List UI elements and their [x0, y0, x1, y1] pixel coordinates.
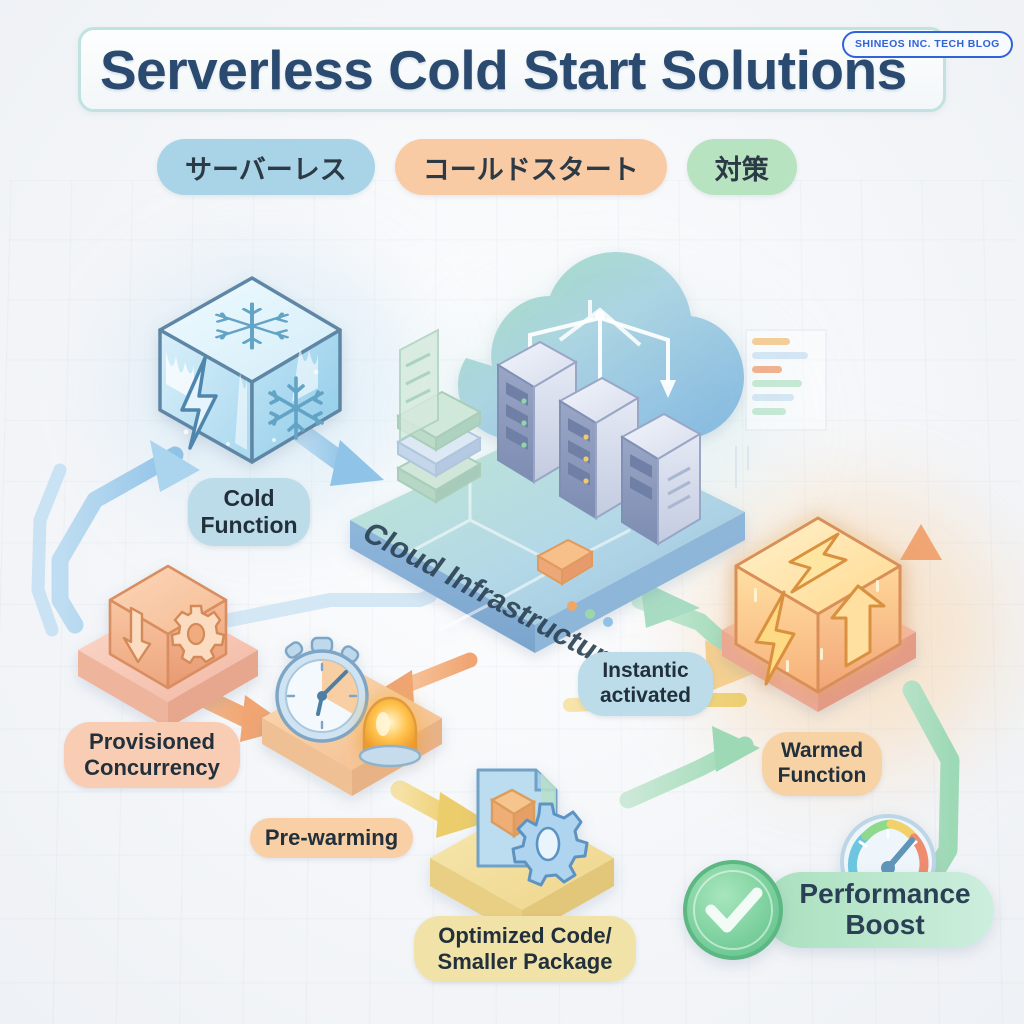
label-cold-function-line1: Cold: [223, 485, 274, 512]
flow-arrow-up-right: [900, 524, 942, 640]
tag-countermeasure[interactable]: 対策: [687, 139, 797, 195]
label-instantic-line1: Instantic: [602, 659, 688, 684]
page-title: Serverless Cold Start Solutions: [100, 33, 930, 107]
flow-arrow-optimized-to-warmed: [628, 726, 760, 800]
label-optimized-code[interactable]: Optimized Code/ Smaller Package: [414, 916, 636, 982]
label-performance-line2: Boost: [845, 910, 924, 941]
tag-serverless[interactable]: サーバーレス: [157, 139, 375, 195]
label-pre-warming-text: Pre-warming: [265, 825, 398, 851]
pre-warming-icon: [262, 638, 442, 796]
stopwatch-icon: [277, 638, 367, 741]
flow-arrow-cloud-backedge: [230, 596, 430, 620]
label-warmed-line1: Warmed: [781, 739, 863, 764]
label-optimized-line1: Optimized Code/: [438, 923, 612, 949]
label-instantic-line2: activated: [600, 684, 691, 709]
label-warmed-line2: Function: [778, 764, 867, 789]
tag-cold-start[interactable]: コールドスタート: [395, 139, 667, 195]
check-circle-icon: [685, 862, 781, 958]
label-instantic-activated[interactable]: Instantic activated: [578, 652, 713, 716]
flow-arrow-prewarm-to-optimized: [400, 790, 488, 838]
label-cold-function-line2: Function: [200, 512, 297, 539]
warmed-function-icon: [722, 518, 916, 712]
label-performance-boost[interactable]: Performance Boost: [780, 878, 990, 942]
label-warmed-function[interactable]: Warmed Function: [762, 732, 882, 796]
mini-rack-icon: [400, 330, 438, 440]
label-cold-function[interactable]: Cold Function: [188, 478, 310, 546]
label-provisioned-line1: Provisioned: [89, 729, 215, 755]
blog-badge[interactable]: SHINEOS INC. TECH BLOG: [842, 31, 1013, 58]
tag-list: サーバーレス コールドスタート 対策: [157, 139, 797, 195]
label-optimized-line2: Smaller Package: [438, 949, 613, 975]
label-provisioned-concurrency[interactable]: Provisioned Concurrency: [64, 722, 240, 788]
flow-arrow-cold-to-cloud: [300, 432, 384, 486]
label-provisioned-line2: Concurrency: [84, 755, 220, 781]
infographic-canvas: Cloud Infrastructure Serverless Cold Sta…: [0, 0, 1024, 1024]
code-snippet-icon: [736, 330, 826, 488]
label-pre-warming[interactable]: Pre-warming: [250, 818, 413, 858]
optimized-code-icon: [430, 770, 614, 938]
label-performance-line1: Performance: [799, 879, 970, 910]
